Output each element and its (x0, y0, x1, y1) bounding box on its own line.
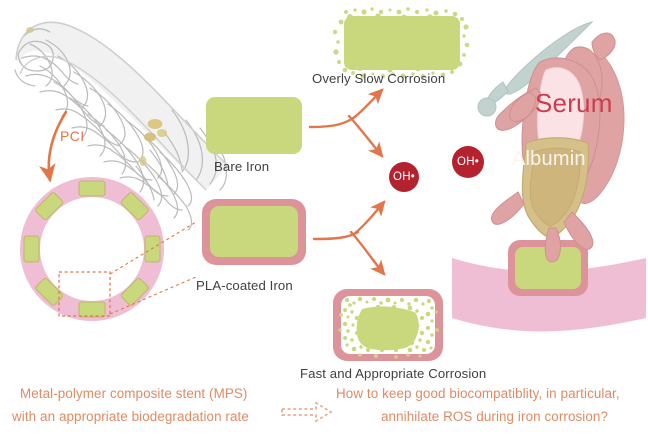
bare-iron-label: Bare Iron (214, 159, 269, 174)
pla-iron-branch-arrows (314, 202, 384, 274)
fast-appropriate-corrosion-label: Fast and Appropriate Corrosion (300, 366, 486, 381)
stent-struts (24, 181, 160, 317)
serum-label: Serum (535, 88, 613, 119)
hydroxyl-radical-chip-2: OH• (452, 146, 484, 178)
pla-coated-iron-block (202, 199, 306, 265)
figure-canvas: PCI Bare Iron PLA-coated Iron Overly Slo… (0, 0, 648, 444)
pci-arrow (49, 112, 66, 180)
overly-slow-corrosion-block (333, 7, 470, 78)
hydroxyl-radical-chip-1: OH• (389, 162, 419, 192)
pci-label: PCI (60, 128, 85, 144)
bare-iron-block (206, 97, 302, 154)
pla-coated-iron-label: PLA-coated Iron (196, 278, 293, 293)
albumin-label: Albumin (512, 148, 586, 171)
footer-left-line2: with an appropriate biodegradation rate (12, 409, 249, 424)
footer-right-line2: annihilate ROS during iron corrosion? (381, 409, 608, 424)
footer-left-line1: Metal-polymer composite stent (MPS) (20, 386, 248, 401)
footer-dashed-arrow (282, 403, 331, 421)
overly-slow-corrosion-label: Overly Slow Corrosion (312, 71, 445, 86)
bare-iron-branch-arrows (310, 90, 382, 156)
fast-appropriate-corrosion-block (333, 289, 443, 361)
vessel-cross-section (24, 181, 196, 317)
footer-right-line1: How to keep good biocompatiblity, in par… (336, 386, 620, 401)
knight-illustration (478, 22, 624, 262)
